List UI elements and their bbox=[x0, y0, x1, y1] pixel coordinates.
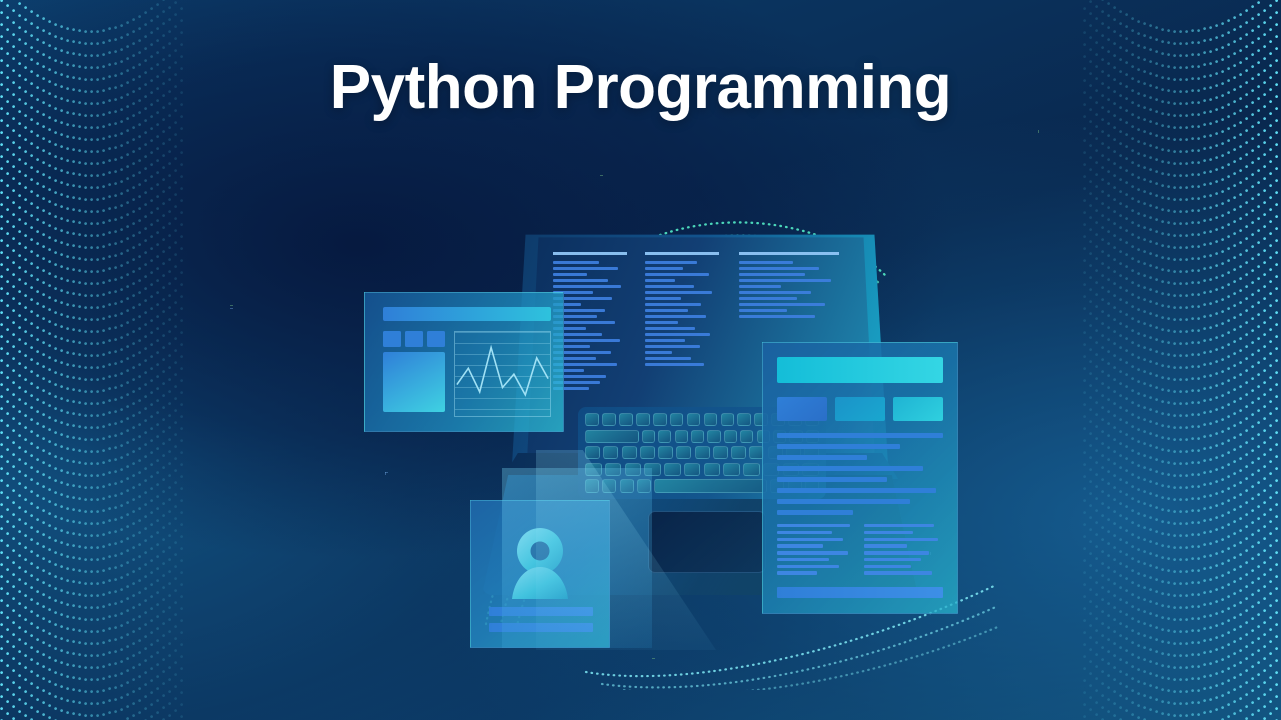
programming-illustration bbox=[350, 200, 970, 680]
dashboard-large-tile bbox=[383, 352, 445, 412]
dot-column bbox=[120, 24, 126, 720]
document-tile-row bbox=[777, 397, 943, 421]
dot-column bbox=[114, 26, 120, 720]
dot-column bbox=[84, 30, 90, 720]
dot-column bbox=[1161, 28, 1167, 720]
dot-column bbox=[132, 18, 138, 720]
dashboard-tile bbox=[405, 331, 423, 347]
dashboard-tile bbox=[383, 331, 401, 347]
document-footer-bar bbox=[777, 587, 943, 598]
dot-column bbox=[1227, 19, 1233, 720]
dot-column bbox=[108, 27, 114, 720]
code-column-2 bbox=[645, 252, 719, 369]
document-text-line bbox=[777, 433, 943, 438]
dot-column bbox=[1167, 29, 1173, 720]
dot-column bbox=[78, 29, 84, 720]
dashboard-inner bbox=[383, 307, 551, 409]
document-inner bbox=[777, 357, 943, 601]
dot-column bbox=[1209, 26, 1215, 720]
grid-line-v1 bbox=[1038, 130, 1039, 442]
document-text-line bbox=[777, 477, 887, 482]
dot-column bbox=[1197, 29, 1203, 720]
dashboard-tile-row bbox=[383, 331, 445, 347]
dot-column bbox=[1155, 26, 1161, 720]
dashboard-tile bbox=[427, 331, 445, 347]
slide-root: Python Programming bbox=[0, 0, 1281, 720]
code-column-3 bbox=[739, 252, 839, 321]
dot-column bbox=[1203, 27, 1209, 720]
document-header-bar bbox=[777, 357, 943, 383]
dot-column bbox=[1191, 29, 1197, 720]
dot-column bbox=[90, 30, 96, 720]
document-tile bbox=[893, 397, 943, 421]
dashboard-header-bar bbox=[383, 307, 551, 321]
code-column-1 bbox=[553, 252, 627, 393]
dot-column bbox=[126, 21, 132, 720]
line-chart bbox=[454, 331, 551, 417]
dot-column bbox=[72, 28, 78, 720]
document-columns bbox=[777, 524, 943, 578]
analytics-dashboard-card[interactable] bbox=[364, 292, 564, 432]
dot-column bbox=[66, 27, 72, 720]
document-text-line bbox=[777, 444, 900, 449]
dot-column bbox=[96, 30, 102, 720]
document-text-line bbox=[777, 466, 923, 471]
dot-column bbox=[1149, 24, 1155, 720]
document-text-line bbox=[777, 455, 867, 460]
dot-column bbox=[1179, 30, 1185, 720]
dot-column bbox=[1143, 22, 1149, 720]
chart-line-path bbox=[455, 332, 550, 416]
dot-column bbox=[1185, 30, 1191, 720]
dashboard-body bbox=[383, 331, 551, 417]
dot-column bbox=[1137, 20, 1143, 720]
page-title: Python Programming bbox=[0, 52, 1281, 123]
document-tile bbox=[777, 397, 827, 421]
document-column bbox=[777, 524, 856, 578]
spacebar-key[interactable] bbox=[654, 479, 767, 492]
document-text-line bbox=[777, 488, 936, 493]
document-text-line bbox=[777, 499, 910, 504]
dot-column bbox=[1221, 22, 1227, 720]
dot-column bbox=[102, 29, 108, 720]
document-text-line bbox=[777, 510, 853, 515]
dot-column bbox=[54, 23, 60, 720]
dot-column bbox=[1215, 24, 1221, 720]
trackpad[interactable] bbox=[648, 511, 766, 573]
document-column bbox=[864, 524, 943, 578]
dot-column bbox=[1173, 30, 1179, 720]
dot-column bbox=[48, 20, 54, 720]
dashboard-sidebar bbox=[383, 331, 445, 417]
document-tile bbox=[835, 397, 885, 421]
grid-line-h2 bbox=[600, 175, 1040, 176]
document-page-card[interactable] bbox=[762, 342, 958, 614]
dot-column bbox=[60, 25, 66, 720]
